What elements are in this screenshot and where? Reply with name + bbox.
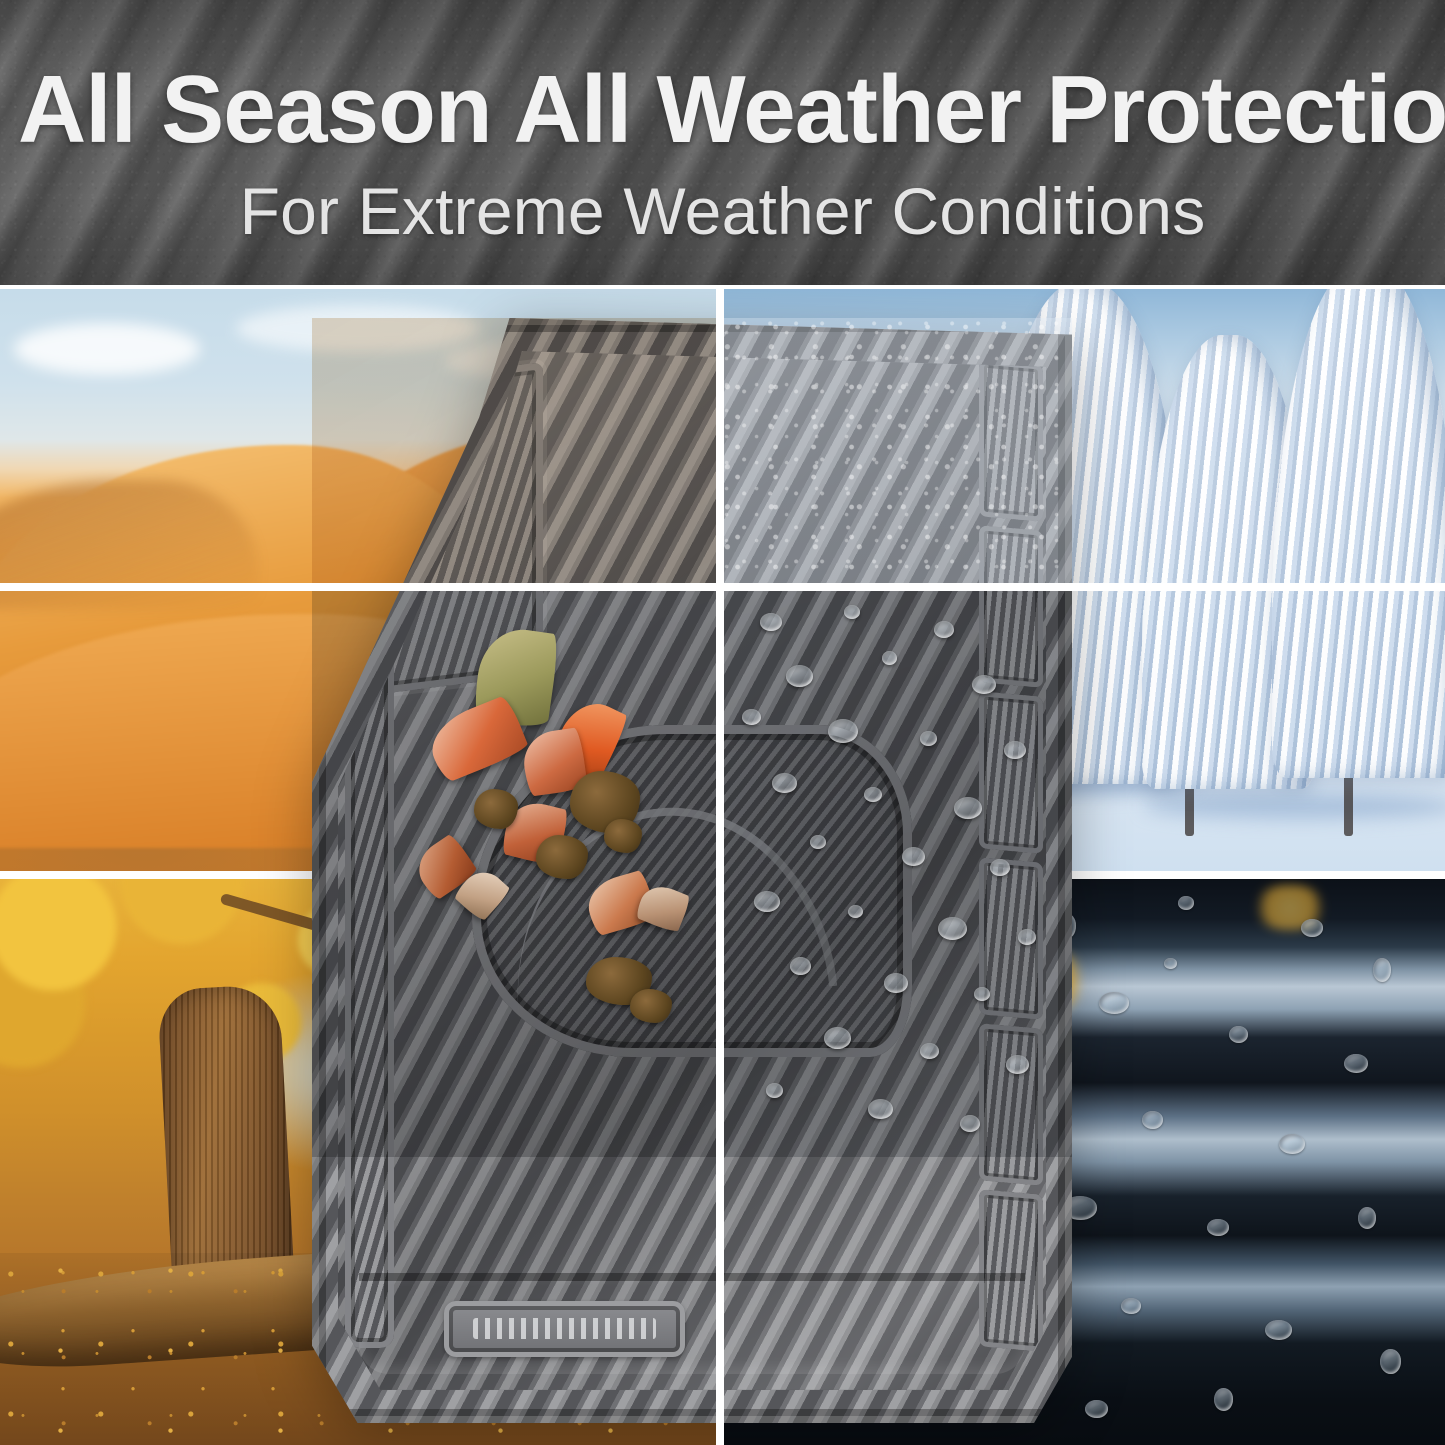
water-droplet xyxy=(1178,896,1194,910)
water-droplet xyxy=(1121,1298,1141,1314)
water-droplet xyxy=(1373,958,1391,982)
water-droplet xyxy=(1358,1207,1376,1229)
product-feature-poster: All Season All Weather Protection For Ex… xyxy=(0,0,1445,1445)
sidewall-segment xyxy=(979,1023,1043,1186)
headline-text: All Season All Weather Protection xyxy=(18,62,1417,158)
water-droplet xyxy=(1085,1400,1108,1418)
mat-body xyxy=(312,318,1072,1423)
water-droplet xyxy=(1207,1219,1229,1236)
water-droplet xyxy=(1380,1349,1401,1374)
sidewall-segment xyxy=(979,359,1043,522)
cloud-shape xyxy=(14,323,200,375)
brand-logo-icon xyxy=(473,1318,656,1339)
water-droplet xyxy=(1265,1320,1292,1340)
snow-covered-tree xyxy=(1272,288,1445,778)
water-droplet xyxy=(1301,919,1323,937)
water-droplet xyxy=(1229,1026,1248,1043)
water-droplet xyxy=(1142,1111,1163,1129)
water-droplet xyxy=(1164,958,1177,969)
header-banner: All Season All Weather Protection For Ex… xyxy=(0,0,1445,288)
water-droplet xyxy=(1099,992,1129,1014)
water-droplet xyxy=(1214,1388,1233,1411)
sidewall-segment xyxy=(979,691,1043,854)
sidewall-segment xyxy=(979,525,1043,688)
mat-brand-plate xyxy=(444,1301,685,1357)
horizontal-divider xyxy=(0,583,1445,591)
tree-stump xyxy=(157,984,295,1296)
vertical-divider xyxy=(716,288,724,1445)
sidewall-segment xyxy=(979,857,1043,1020)
mat-right-sidewall xyxy=(979,359,1043,1351)
subheadline-text: For Extreme Weather Conditions xyxy=(0,178,1445,244)
water-droplet xyxy=(1279,1134,1305,1154)
water-droplet xyxy=(1344,1054,1368,1073)
car-floor-mat xyxy=(312,318,1072,1423)
